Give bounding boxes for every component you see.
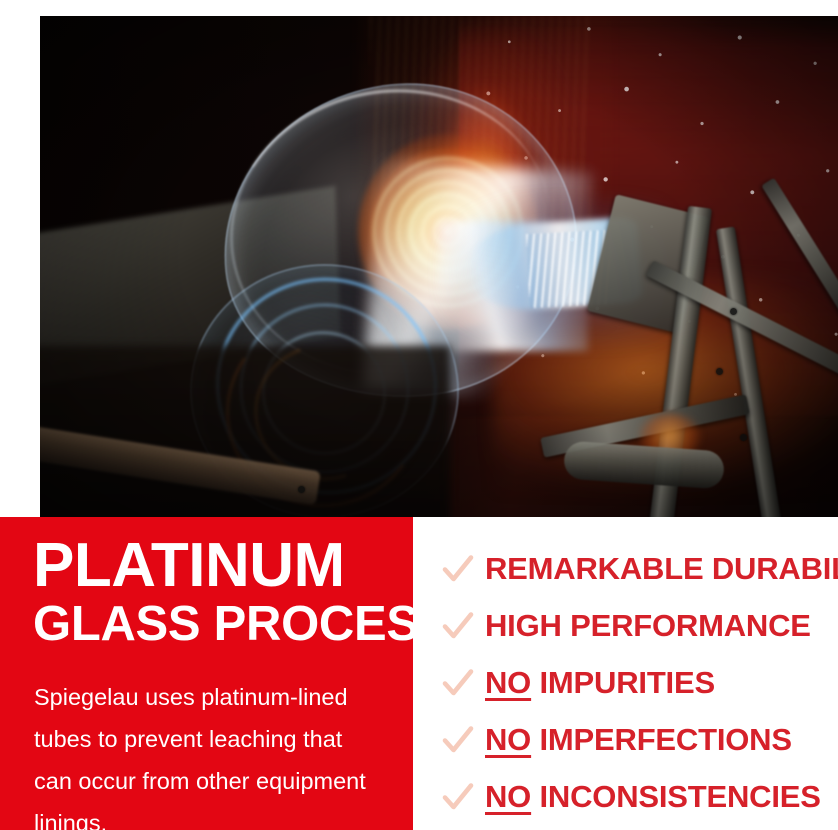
- list-item: HIGH PERFORMANCE: [441, 609, 811, 643]
- checkmark-icon: [441, 780, 475, 814]
- glassblowing-photo: [40, 16, 838, 533]
- list-item-label: HIGH PERFORMANCE: [485, 609, 811, 643]
- benefit-text: HIGH PERFORMANCE: [485, 608, 811, 643]
- list-item: REMARKABLE DURABILITY: [441, 552, 838, 586]
- benefit-text: IMPERFECTIONS: [531, 722, 792, 757]
- benefit-text: INCONSISTENCIES: [531, 779, 821, 814]
- list-item-label: NO INCONSISTENCIES: [485, 780, 821, 814]
- benefit-text: IMPURITIES: [531, 665, 715, 700]
- negation-word: NO: [485, 665, 531, 700]
- checkmark-icon: [441, 552, 475, 586]
- benefits-checklist: REMARKABLE DURABILITY HIGH PERFORMANCE N…: [413, 517, 838, 830]
- negation-word: NO: [485, 779, 531, 814]
- checkmark-icon: [441, 609, 475, 643]
- benefit-text: REMARKABLE DURABILITY: [485, 551, 838, 586]
- body-copy: Spiegelau uses platinum-lined tubes to p…: [34, 676, 384, 830]
- list-item: NO IMPURITIES: [441, 666, 715, 700]
- negation-word: NO: [485, 722, 531, 757]
- headline-secondary: GLASS PROCESS: [33, 599, 451, 650]
- list-item-label: NO IMPERFECTIONS: [485, 723, 792, 757]
- checkmark-icon: [441, 723, 475, 757]
- poster-root: PLATINUM GLASS PROCESS Spiegelau uses pl…: [0, 0, 838, 830]
- photo-vignette: [40, 16, 838, 533]
- list-item-label: NO IMPURITIES: [485, 666, 715, 700]
- list-item: NO IMPERFECTIONS: [441, 723, 792, 757]
- headline-primary: PLATINUM: [33, 534, 345, 597]
- checkmark-icon: [441, 666, 475, 700]
- list-item-label: REMARKABLE DURABILITY: [485, 552, 838, 586]
- list-item: NO INCONSISTENCIES: [441, 780, 821, 814]
